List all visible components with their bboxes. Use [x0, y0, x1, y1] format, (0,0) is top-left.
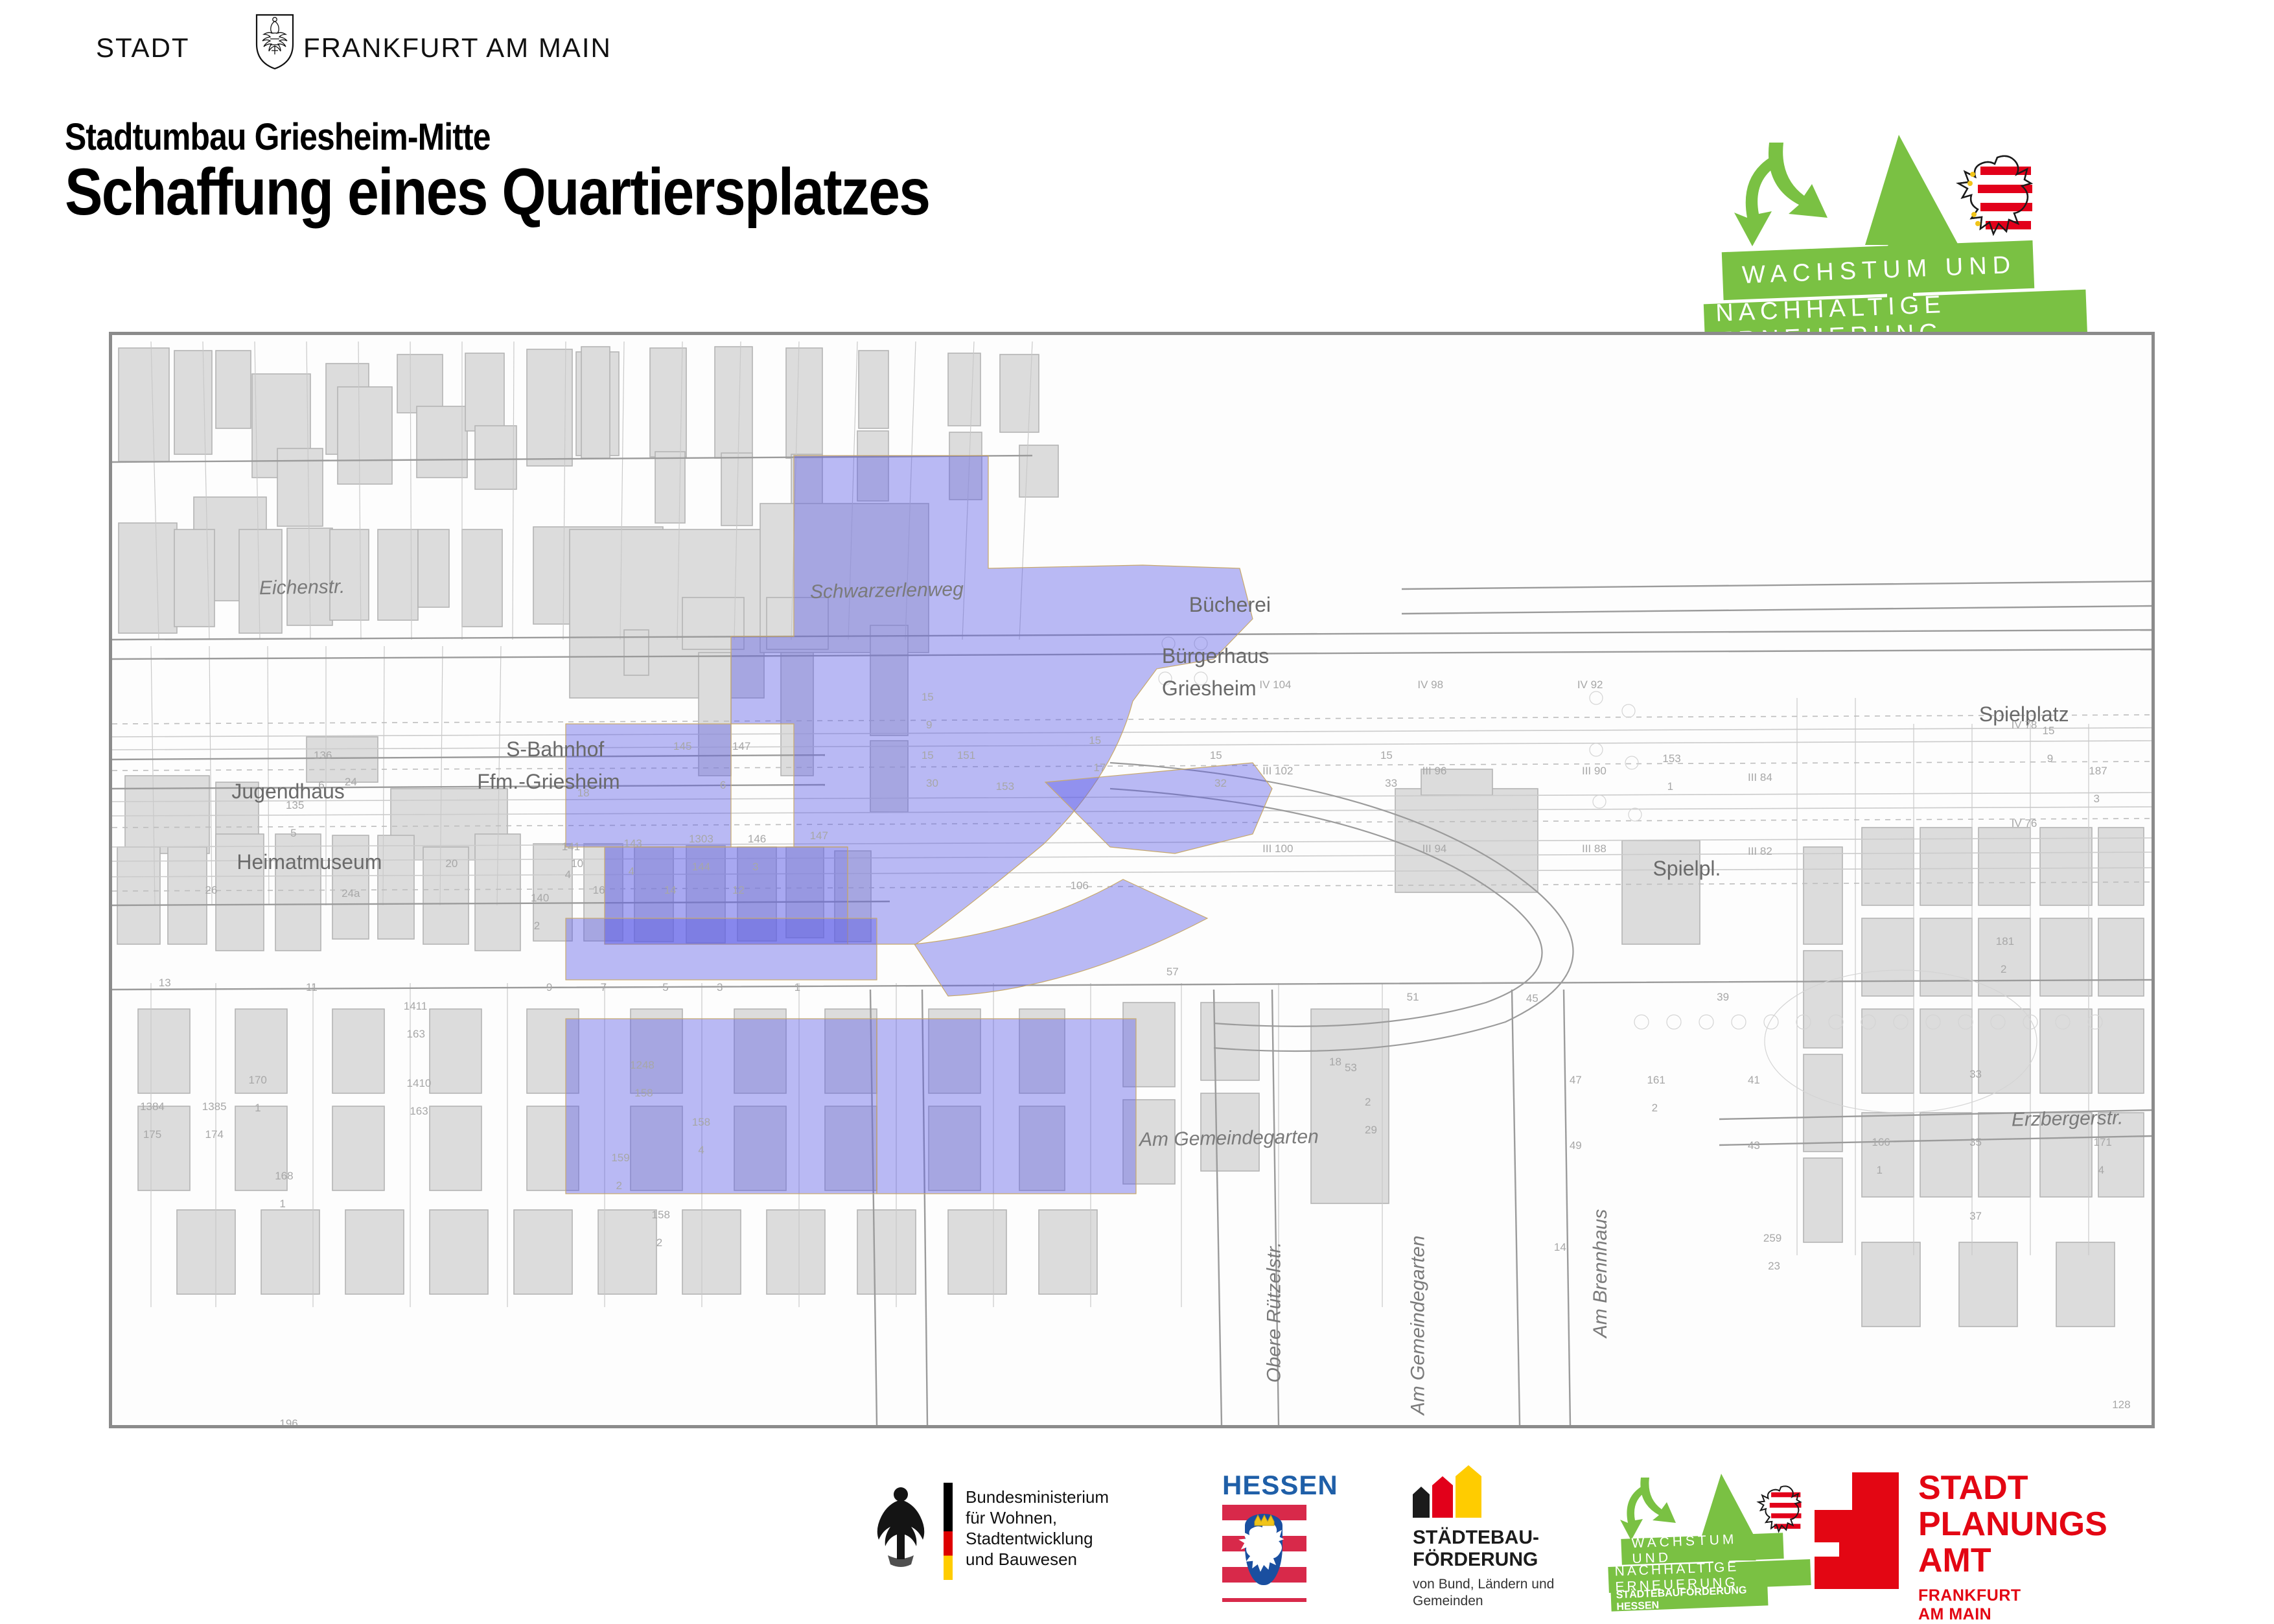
staedtebau-line-2: FÖRDERUNG	[1413, 1549, 1554, 1571]
stadtplanung-line-3: AMT	[1918, 1542, 2107, 1579]
recycle-arrow-icon	[1620, 1478, 1676, 1540]
funding-logo-bar: Bundesministerium für Wohnen, Stadtentwi…	[0, 1458, 2274, 1607]
wachstum-small-line3: STÄDTEBAUFÖRDERUNG HESSEN	[1611, 1586, 1769, 1611]
bmwsb-logo: Bundesministerium für Wohnen, Stadtentwi…	[862, 1478, 940, 1584]
stadtplanung-title: STADT PLANUNGS AMT	[1918, 1470, 2107, 1579]
stadtplanung-line-1: STADT	[1918, 1470, 2107, 1506]
bmwsb-line-1: Bundesministerium	[966, 1487, 1109, 1507]
stadtplanung-subtitle: FRANKFURT AM MAIN	[1918, 1586, 2021, 1624]
staedtebau-title: STÄDTEBAU- FÖRDERUNG	[1413, 1527, 1554, 1571]
german-flag-bar-icon	[944, 1483, 953, 1580]
hessen-lion-icon	[1758, 1486, 1801, 1531]
staedtebau-line-1: STÄDTEBAU-	[1413, 1527, 1554, 1549]
frankfurt-eagle-crest-icon	[255, 13, 295, 70]
staedtebau-sub-1: von Bund, Ländern und	[1413, 1576, 1554, 1593]
city-of-frankfurt-logo: STADT FRANKFURT AM MAIN	[96, 27, 511, 73]
bmwsb-text: Bundesministerium für Wohnen, Stadtentwi…	[966, 1487, 1109, 1570]
hessen-lion-icon	[1958, 156, 2032, 252]
staedtebau-sub: von Bund, Ländern und Gemeinden	[1413, 1576, 1554, 1610]
stadtplanung-line-2: PLANUNGS	[1918, 1506, 2107, 1542]
stadtplanungsamt-mark-icon	[1815, 1472, 1899, 1589]
staedtebaufoerderung-logo: STÄDTEBAU- FÖRDERUNG von Bund, Ländern u…	[1413, 1475, 1554, 1610]
page-header: STADT FRANKFURT AM MAIN Stadtumbau Gries…	[0, 0, 2274, 324]
three-houses-icon	[1413, 1475, 1491, 1518]
staedtebau-sub-2: Gemeinden	[1413, 1593, 1554, 1610]
cadastral-map[interactable]: Eichenstr.SchwarzerlenwegErzbergerstr.Am…	[109, 332, 2155, 1428]
page-subtitle: Stadtumbau Griesheim-Mitte	[65, 115, 491, 159]
page-title: Schaffung eines Quartiersplatzes	[65, 154, 929, 230]
hessen-wordmark: HESSEN	[1222, 1470, 1306, 1501]
city-logo-word-frankfurt: FRANKFURT AM MAIN	[303, 32, 612, 64]
bmwsb-line-2: für Wohnen, Stadtentwicklung	[966, 1507, 1109, 1549]
hessen-logo: HESSEN	[1222, 1470, 1306, 1602]
recycle-arrow-icon	[1734, 143, 1827, 246]
city-logo-word-stadt: STADT	[96, 32, 190, 64]
map-drawing	[112, 335, 2152, 1425]
hessen-flag-lion-icon	[1222, 1505, 1306, 1602]
bmwsb-line-3: und Bauwesen	[966, 1549, 1109, 1570]
bundesadler-icon	[862, 1478, 940, 1581]
